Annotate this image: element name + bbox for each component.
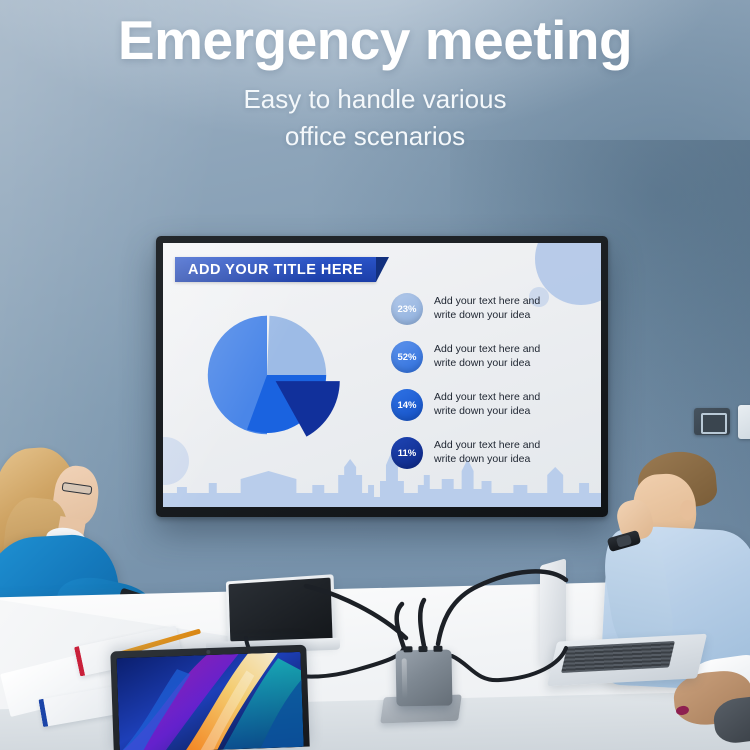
man-ear [680, 500, 695, 520]
dock-port-3[interactable] [433, 646, 442, 652]
laptop-front[interactable] [110, 645, 309, 750]
legend-line-1: Add your text here and [434, 391, 540, 405]
wall-mounted-tv[interactable]: ADD YOUR TITLE HERE [156, 236, 608, 517]
legend-percent: 23% [397, 304, 416, 315]
pie-slice-23 [267, 316, 326, 375]
legend-bubble-23: 23% [391, 293, 423, 325]
legend-text: Add your text here and write down your i… [434, 295, 540, 323]
pie-chart [193, 301, 341, 449]
legend-row: 23% Add your text here and write down yo… [391, 293, 581, 325]
legend-percent: 14% [397, 400, 416, 411]
page-subtitle-line-2: office scenarios [0, 121, 750, 152]
legend-bubble-52: 52% [391, 341, 423, 373]
slide-title-text: ADD YOUR TITLE HERE [188, 262, 363, 278]
legend-line-2: write down your idea [434, 357, 540, 371]
dock-port-2[interactable] [418, 646, 427, 652]
tv-screen: ADD YOUR TITLE HERE [163, 243, 601, 507]
dock-port-1[interactable] [403, 646, 412, 652]
pie-chart-svg [193, 301, 341, 449]
legend-text: Add your text here and write down your i… [434, 391, 540, 419]
legend-row: 11% Add your text here and write down yo… [391, 437, 581, 469]
legend-row: 14% Add your text here and write down yo… [391, 389, 581, 421]
legend-bubble-11: 11% [391, 437, 423, 469]
legend-line-1: Add your text here and [434, 295, 540, 309]
legend-text: Add your text here and write down your i… [434, 343, 540, 371]
legend-line-1: Add your text here and [434, 439, 540, 453]
laptop-front-screen [117, 652, 304, 750]
legend-percent: 52% [397, 352, 416, 363]
chart-legend: 23% Add your text here and write down yo… [391, 293, 581, 485]
legend-line-2: write down your idea [434, 453, 540, 467]
legend-bubble-14: 14% [391, 389, 423, 421]
aurora-wallpaper [117, 652, 304, 750]
legend-percent: 11% [398, 448, 417, 459]
legend-line-2: write down your idea [434, 309, 540, 323]
legend-row: 52% Add your text here and write down yo… [391, 341, 581, 373]
legend-line-1: Add your text here and [434, 343, 540, 357]
wall-switch-icon[interactable] [738, 405, 750, 439]
webcam-icon [206, 650, 210, 654]
legend-text: Add your text here and write down your i… [434, 439, 540, 467]
docking-station[interactable] [396, 650, 453, 707]
page-subtitle-line-1: Easy to handle various [0, 84, 750, 115]
meeting-room-scene: Emergency meeting Easy to handle various… [0, 0, 750, 750]
page-title: Emergency meeting [0, 8, 750, 72]
slide-title-banner: ADD YOUR TITLE HERE [175, 257, 376, 282]
ribbon-fold [376, 257, 389, 282]
legend-line-2: write down your idea [434, 405, 540, 419]
wall-socket-icon[interactable] [694, 408, 730, 435]
